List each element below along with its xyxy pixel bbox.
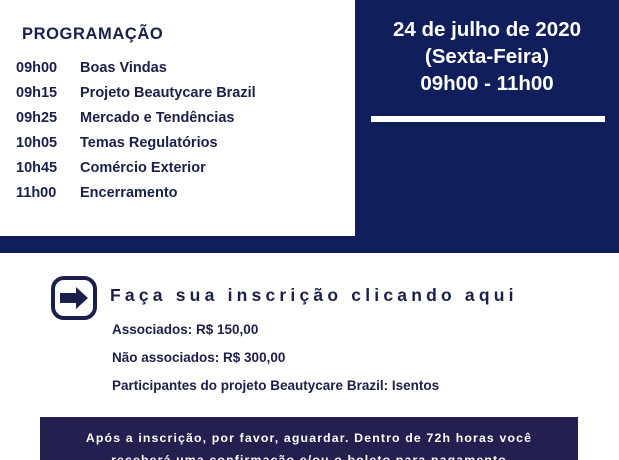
schedule-label: Encerramento <box>80 185 178 201</box>
schedule-label: Boas Vindas <box>80 60 167 76</box>
price-participantes: Participantes do projeto Beautycare Braz… <box>112 378 439 393</box>
schedule-time: 10h05 <box>16 135 80 151</box>
schedule-time: 09h00 <box>16 60 80 76</box>
divider-rule <box>371 116 605 122</box>
event-poster: PROGRAMAÇÃO 09h00 Boas Vindas 09h15 Proj… <box>0 0 619 460</box>
schedule-time: 09h15 <box>16 85 80 101</box>
registration-heading[interactable]: Faça sua inscrição clicando aqui <box>110 285 518 306</box>
date-panel: 24 de julho de 2020 (Sexta-Feira) 09h00 … <box>355 0 619 236</box>
notice-line-2: receberá uma confirmação e/ou o boleto p… <box>40 449 578 460</box>
registration-section: Faça sua inscrição clicando aqui Associa… <box>0 253 619 413</box>
price-nao-associados: Não associados: R$ 300,00 <box>112 350 285 365</box>
event-weekday: (Sexta-Feira) <box>355 43 619 70</box>
schedule-row: 11h00 Encerramento <box>16 185 346 210</box>
schedule-list: 09h00 Boas Vindas 09h15 Projeto Beautyca… <box>16 60 346 210</box>
schedule-row: 09h15 Projeto Beautycare Brazil <box>16 85 346 110</box>
schedule-card: PROGRAMAÇÃO 09h00 Boas Vindas 09h15 Proj… <box>0 0 355 236</box>
schedule-label: Comércio Exterior <box>80 160 206 176</box>
schedule-time: 09h25 <box>16 110 80 126</box>
schedule-time: 10h45 <box>16 160 80 176</box>
schedule-label: Temas Regulatórios <box>80 135 218 151</box>
schedule-title: PROGRAMAÇÃO <box>22 25 163 44</box>
event-date: 24 de julho de 2020 <box>355 16 619 43</box>
login-enter-icon[interactable] <box>50 275 98 321</box>
schedule-time: 11h00 <box>16 185 80 201</box>
schedule-label: Projeto Beautycare Brazil <box>80 85 256 101</box>
schedule-row: 10h05 Temas Regulatórios <box>16 135 346 160</box>
notice-line-1: Após a inscrição, por favor, aguardar. D… <box>40 417 578 449</box>
event-time-range: 09h00 - 11h00 <box>355 70 619 97</box>
schedule-row: 10h45 Comércio Exterior <box>16 160 346 185</box>
schedule-row: 09h00 Boas Vindas <box>16 60 346 85</box>
price-associados: Associados: R$ 150,00 <box>112 322 258 337</box>
schedule-label: Mercado e Tendências <box>80 110 234 126</box>
schedule-row: 09h25 Mercado e Tendências <box>16 110 346 135</box>
notice-banner: Após a inscrição, por favor, aguardar. D… <box>40 417 578 460</box>
